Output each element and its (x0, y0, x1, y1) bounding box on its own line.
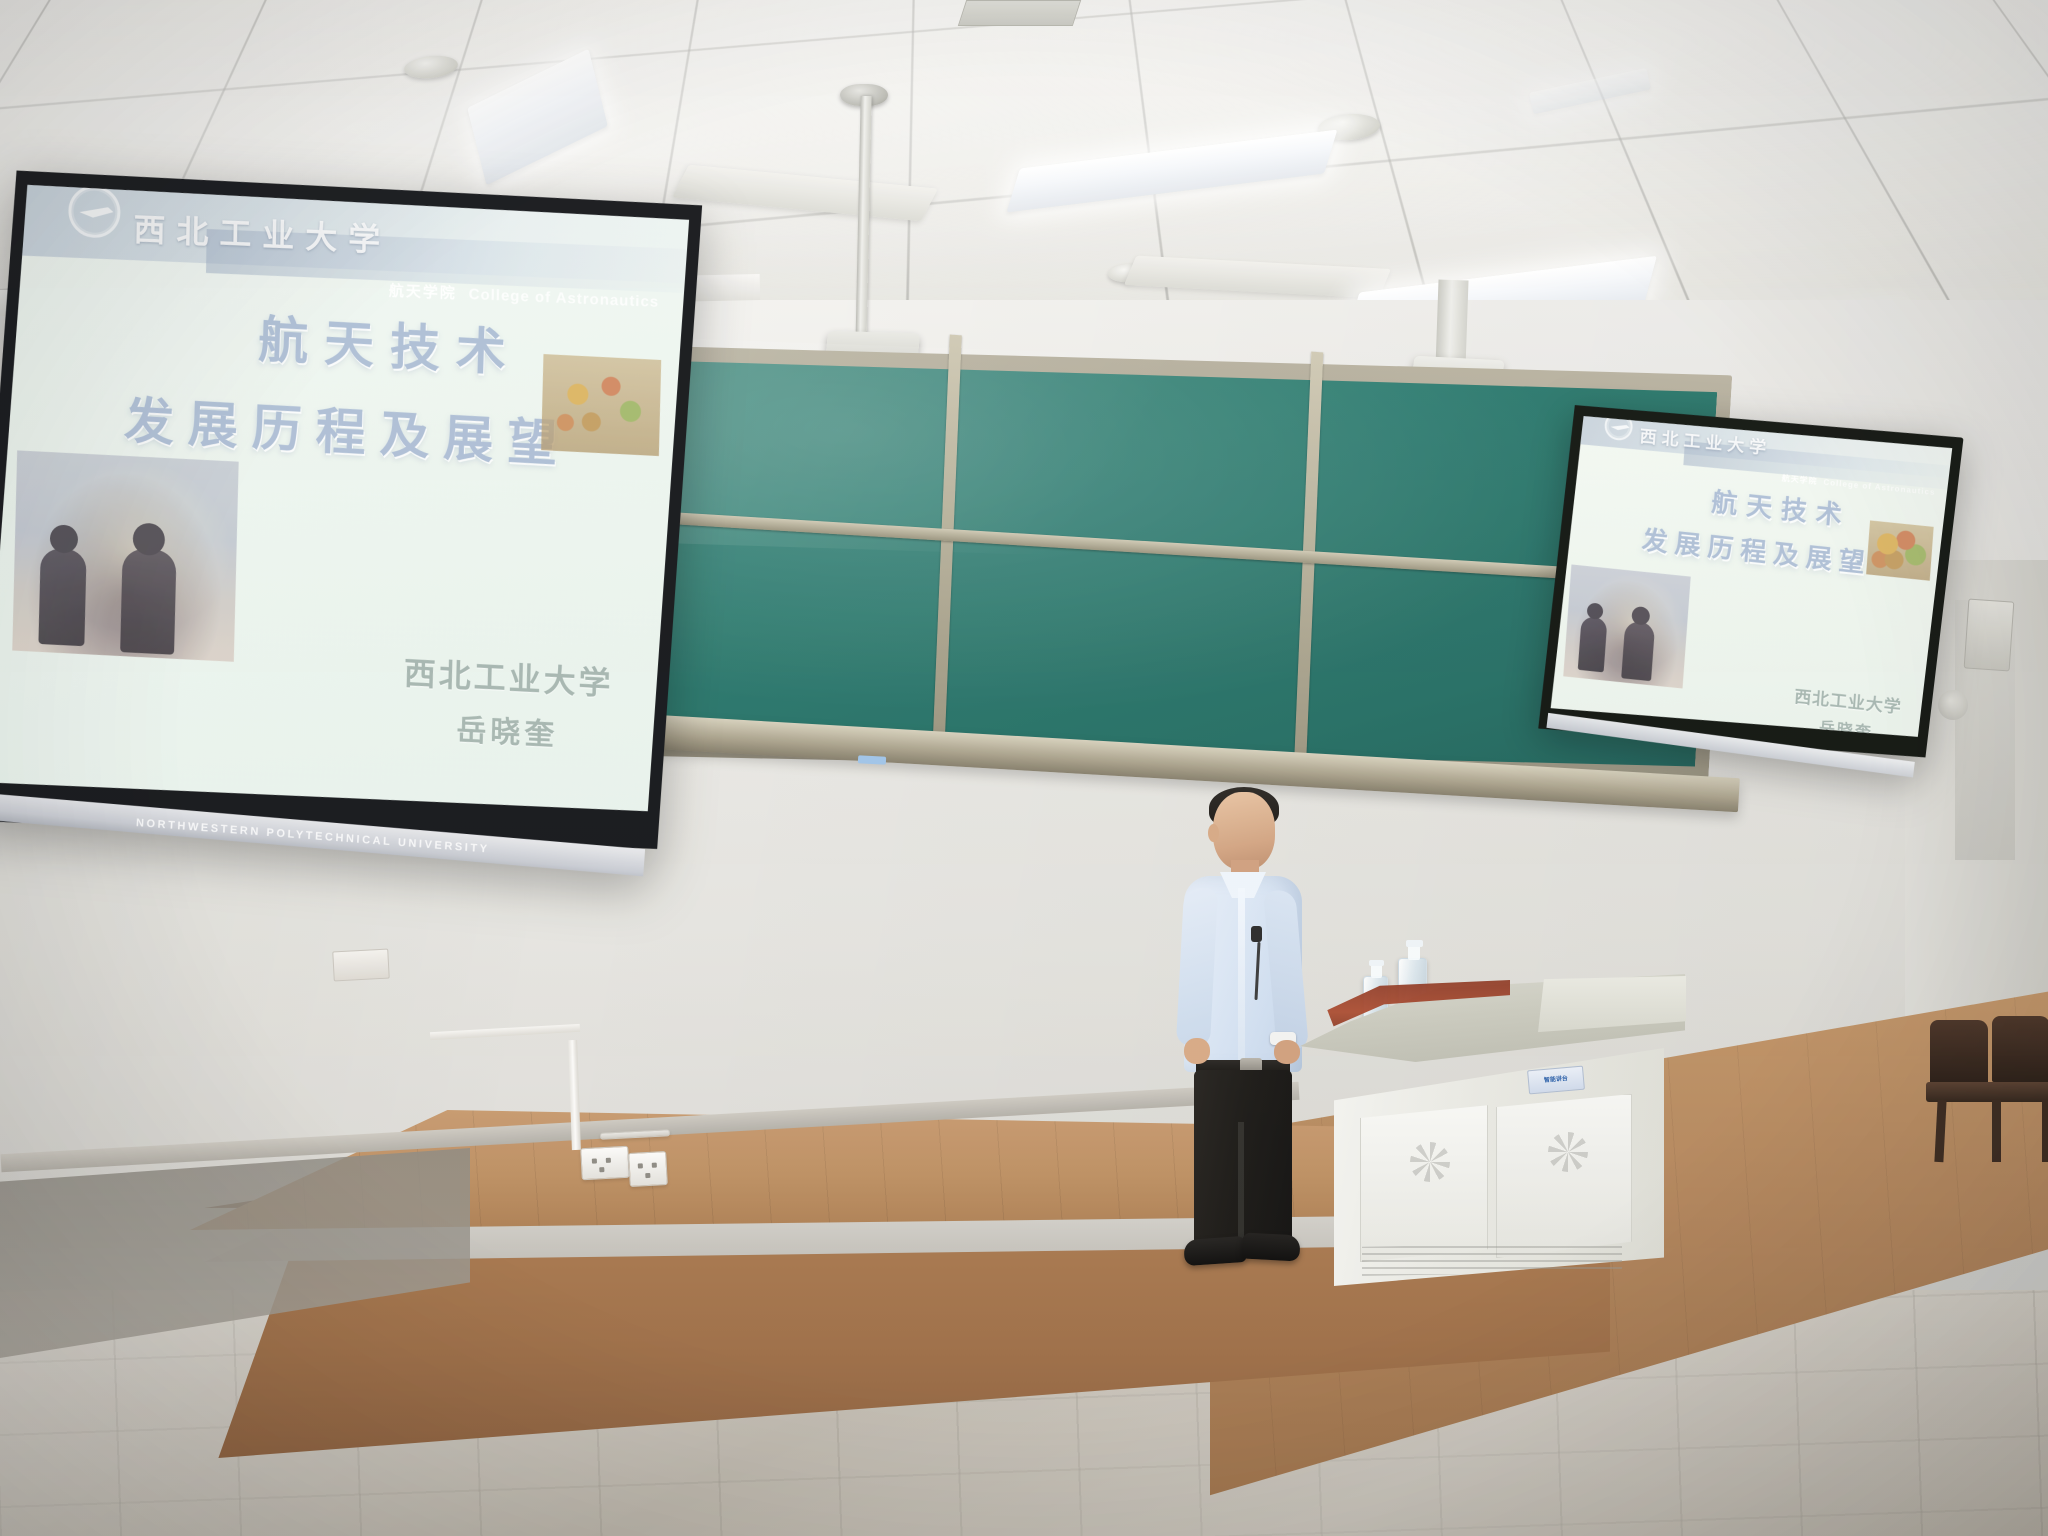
lectern-podium[interactable]: 智能讲台 (1300, 960, 1685, 1290)
presenter-hand-right (1274, 1040, 1300, 1064)
podium-vent-slots (1362, 1242, 1622, 1276)
podium-door[interactable] (1360, 1102, 1488, 1262)
podium-badge: 智能讲台 (1527, 1066, 1585, 1095)
trouser-seam (1238, 1122, 1244, 1248)
photo-figure (38, 548, 86, 646)
fan-vent-icon (1410, 1142, 1450, 1182)
lapel-microphone-icon (1251, 926, 1262, 942)
presenter-head (1213, 792, 1275, 870)
slide-photo-children (1563, 564, 1691, 688)
presenter-ear (1208, 824, 1219, 842)
chair-backrest (1992, 1016, 2048, 1082)
presenter-hand-left (1184, 1038, 1210, 1064)
college-name-cn: 航天学院 (1781, 473, 1818, 487)
chair-seat (1926, 1082, 2048, 1102)
secondary-slide-surface: 西北工业大学 航天学院 College of Astronautics 航天技术… (1549, 394, 1953, 762)
chair-leg (1992, 1100, 2001, 1162)
chair-leg (1934, 1100, 1946, 1162)
power-outlet[interactable] (628, 1151, 668, 1187)
presenter-shoe-left (1183, 1236, 1247, 1266)
lecture-hall-scene: 西北工业大学 航天学院 College of Astronautics 航天技术… (0, 0, 2048, 1536)
photo-figure (120, 548, 176, 655)
power-outlet[interactable] (580, 1146, 630, 1180)
chair-group[interactable] (1930, 1020, 2048, 1180)
wall-speaker-box (1964, 598, 2015, 671)
main-projection-screen[interactable]: 西北工业大学 航天学院 College of Astronautics 航天技术… (0, 136, 703, 890)
podium-badge-text: 智能讲台 (1544, 1076, 1568, 1085)
slide-organization: 西北工业大学 (403, 648, 614, 705)
wall-junction-box (332, 949, 389, 982)
photo-figure (1621, 620, 1655, 681)
college-name-cn: 航天学院 (389, 280, 457, 304)
presenter-shoe-right (1241, 1233, 1300, 1262)
slide-presenter: 岳晓奎 (402, 702, 613, 757)
ceiling-vent (958, 0, 1081, 26)
slide-decorative-thumbnail (541, 354, 661, 456)
presenter (1178, 792, 1308, 1262)
podium-door[interactable] (1496, 1094, 1632, 1258)
photo-figure (1578, 616, 1608, 673)
wall-fixture-icon (1938, 690, 1968, 720)
main-slide-surface: 西北工业大学 航天学院 College of Astronautics 航天技术… (0, 153, 690, 849)
secondary-projection-screen[interactable]: 西北工业大学 航天学院 College of Astronautics 航天技术… (1536, 381, 1963, 786)
slide-photo-children (12, 450, 238, 661)
slide-decorative-thumbnail (1866, 520, 1934, 580)
college-name-en: College of Astronautics (469, 286, 660, 311)
chalk-piece[interactable] (858, 755, 886, 764)
presenter-shirt-placket (1238, 888, 1245, 1066)
chair-backrest (1930, 1020, 1988, 1084)
chair-leg (2042, 1100, 2048, 1162)
fan-vent-icon (1548, 1132, 1588, 1172)
